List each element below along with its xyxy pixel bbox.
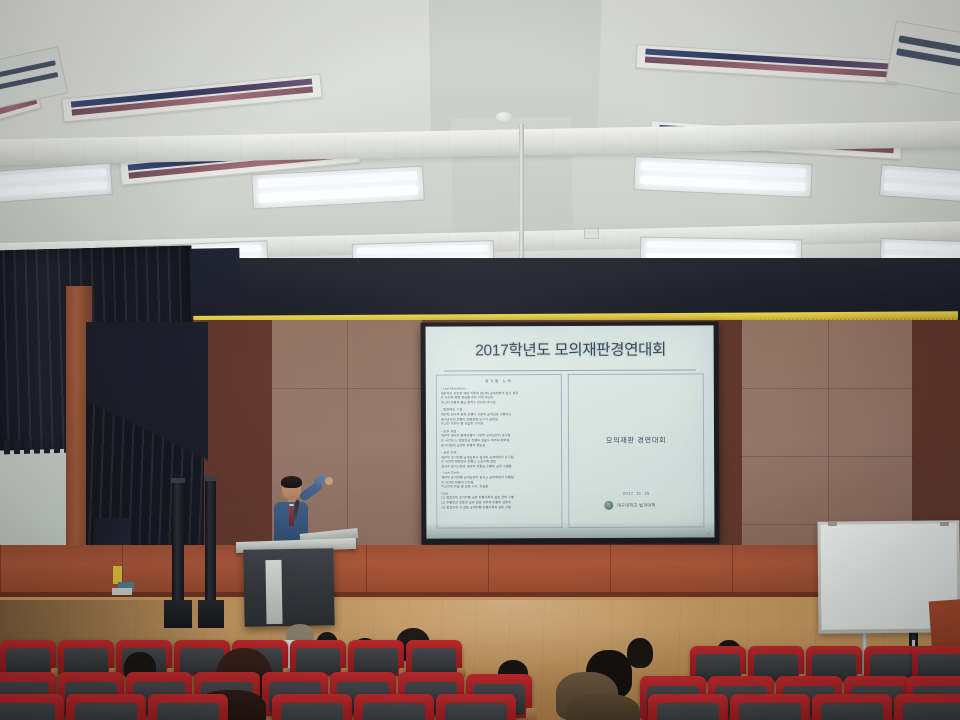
whiteboard-clip-left [828, 522, 837, 526]
auditorium-seat[interactable] [648, 694, 728, 720]
auditorium-seat[interactable] [290, 640, 346, 676]
auditorium-seat[interactable] [406, 640, 462, 676]
slide-title-rule [444, 369, 696, 371]
slide-title: 2017학년도 모의재판경연대회 [436, 337, 706, 360]
ceiling-light-fixture-on [0, 163, 113, 206]
presentation-slide: 2017학년도 모의재판경연대회 평가항 노래 - Law Maximum - … [426, 325, 715, 538]
auditorium-seat[interactable] [0, 694, 64, 720]
slide-right-column: 모의재판 경연대회 2017. 11. 15 대구대학교 법과대학 [568, 373, 705, 528]
auditorium-seat[interactable] [354, 694, 434, 720]
presenter-hair [281, 476, 302, 488]
slide-event-date: 2017. 11. 15 [569, 490, 703, 496]
slide-body-line: 피고인 변론의 중요 항목수 판단의 추가성 [441, 400, 557, 405]
ceiling-light-fixture-on [879, 164, 960, 204]
speaker-tower-cap-left [171, 478, 185, 483]
auditorium-photo: 2017학년도 모의재판경연대회 평가항 노래 - Law Maximum - … [0, 0, 960, 720]
ceiling-dome-fixture [496, 112, 512, 121]
slide-body-line: 피고인의 진술 중 검토 수사, 진술함 [441, 485, 557, 490]
auditorium-seat[interactable] [348, 640, 404, 676]
auditorium-seat[interactable] [730, 694, 810, 720]
auditorium-seat[interactable] [148, 694, 228, 720]
slide-columns: 평가항 노래 - Law Maximum - 재판부가 단순한 재판 기록과 검… [436, 373, 705, 528]
audience-head [627, 638, 653, 668]
smoke-detector [584, 228, 599, 239]
slide-body-line: (3) 법정준비 가 검토 공개진행 진행기록과 검토 사항 [441, 505, 557, 510]
auditorium-seat[interactable] [894, 694, 960, 720]
speaker-tower-cap-right [204, 476, 217, 481]
auditorium-seat[interactable] [0, 640, 56, 676]
projection-screen: 2017학년도 모의재판경연대회 평가항 노래 - Law Maximum - … [426, 325, 715, 538]
ceiling-light-fixture-on [251, 166, 425, 210]
podium-front-plate [265, 560, 282, 624]
auditorium-seat[interactable] [272, 694, 352, 720]
ceiling-light-fixture-on [633, 156, 812, 198]
slide-event-title: 모의재판 경연대회 [569, 435, 703, 446]
speaker-tower-pole-right [205, 478, 216, 605]
auditorium-seat[interactable] [58, 640, 114, 676]
slide-body-line: 검사측 증거신청과 재판의 변론공 수행의 공정 수행함 [441, 464, 557, 469]
speaker-tower-base-right [198, 600, 224, 628]
auditorium-seat[interactable] [66, 694, 146, 720]
speaker-tower-pole-left [172, 480, 184, 605]
slide-left-heading: 평가항 노래 [441, 379, 557, 385]
auditorium-seat[interactable] [812, 694, 892, 720]
podium [243, 548, 334, 627]
slide-body-line: 피고인 의견수 중 진술한 신속성 [441, 422, 557, 427]
presenter-hand [325, 477, 333, 485]
audience-head [566, 694, 640, 720]
slide-organization: 대구대학교 법과대학 [569, 502, 703, 509]
slide-body-line: 증거자료와 공정한 진행의 정당성 [441, 443, 557, 448]
whiteboard-clip-right [940, 522, 949, 526]
slide-left-column: 평가항 노래 - Law Maximum - 재판부가 단순한 재판 기록과 검… [436, 374, 563, 529]
auditorium-seat[interactable] [436, 694, 516, 720]
screen-bottom-shadow [426, 521, 714, 538]
ceiling [0, 0, 960, 268]
wainscot-seams [0, 545, 960, 597]
prop-white-item [112, 588, 132, 595]
speaker-tower-base-left [164, 600, 192, 628]
